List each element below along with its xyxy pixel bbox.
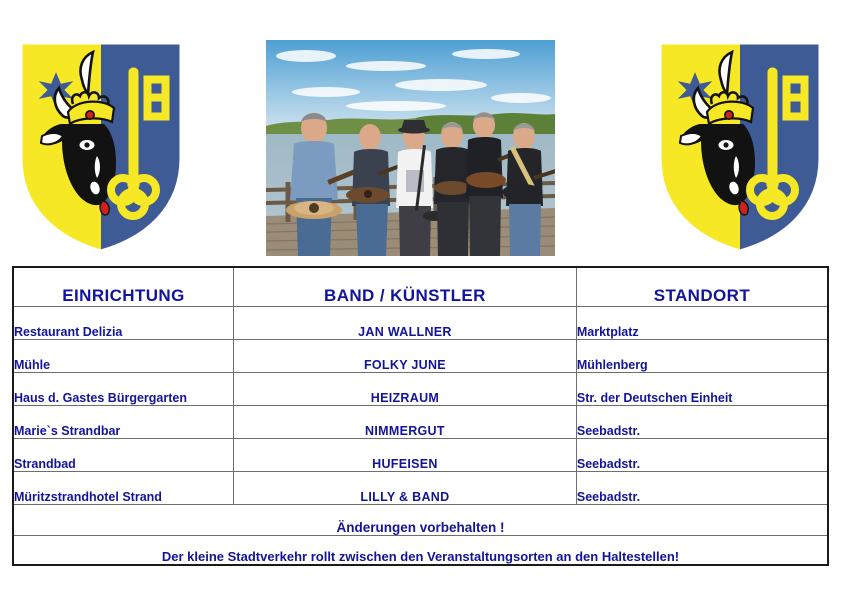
cell-band: HEIZRAUM — [234, 373, 577, 406]
column-header-venue: EINRICHTUNG — [13, 267, 234, 307]
transport-note-row: Der kleine Stadtverkehr rollt zwischen d… — [13, 536, 828, 566]
column-header-location: STANDORT — [576, 267, 828, 307]
table-row: Haus d. Gastes Bürgergarten HEIZRAUM Str… — [13, 373, 828, 406]
column-header-band: BAND / KÜNSTLER — [234, 267, 577, 307]
table-row: Mühle FOLKY JUNE Mühlenberg — [13, 340, 828, 373]
cell-band: NIMMERGUT — [234, 406, 577, 439]
cell-location: Marktplatz — [576, 307, 828, 340]
table-row: Marie`s Strandbar NIMMERGUT Seebadstr. — [13, 406, 828, 439]
disclaimer-text: Änderungen vorbehalten ! — [13, 505, 828, 536]
cell-venue: Marie`s Strandbar — [13, 406, 234, 439]
transport-note-text: Der kleine Stadtverkehr rollt zwischen d… — [13, 536, 828, 566]
band-photo — [266, 40, 555, 256]
cell-location: Mühlenberg — [576, 340, 828, 373]
coat-of-arms-right — [655, 38, 825, 256]
disclaimer-row: Änderungen vorbehalten ! — [13, 505, 828, 536]
cell-band: JAN WALLNER — [234, 307, 577, 340]
cell-venue: Müritzstrandhotel Strand — [13, 472, 234, 505]
band-photo-image — [266, 40, 555, 256]
cell-band: LILLY & BAND — [234, 472, 577, 505]
cell-venue: Strandbad — [13, 439, 234, 472]
cell-location: Str. der Deutschen Einheit — [576, 373, 828, 406]
cell-venue: Restaurant Delizia — [13, 307, 234, 340]
header-band — [0, 0, 841, 262]
table-row: Strandbad HUFEISEN Seebadstr. — [13, 439, 828, 472]
cell-location: Seebadstr. — [576, 472, 828, 505]
coat-of-arms-icon — [655, 38, 825, 256]
cell-location: Seebadstr. — [576, 406, 828, 439]
event-schedule-table: EINRICHTUNG BAND / KÜNSTLER STANDORT Res… — [12, 266, 829, 566]
table-row: Müritzstrandhotel Strand LILLY & BAND Se… — [13, 472, 828, 505]
cell-band: FOLKY JUNE — [234, 340, 577, 373]
cell-venue: Haus d. Gastes Bürgergarten — [13, 373, 234, 406]
coat-of-arms-icon — [16, 38, 186, 256]
cell-band: HUFEISEN — [234, 439, 577, 472]
table-row: Restaurant Delizia JAN WALLNER Marktplat… — [13, 307, 828, 340]
cell-location: Seebadstr. — [576, 439, 828, 472]
cell-venue: Mühle — [13, 340, 234, 373]
table-header-row: EINRICHTUNG BAND / KÜNSTLER STANDORT — [13, 267, 828, 307]
coat-of-arms-left — [16, 38, 186, 256]
